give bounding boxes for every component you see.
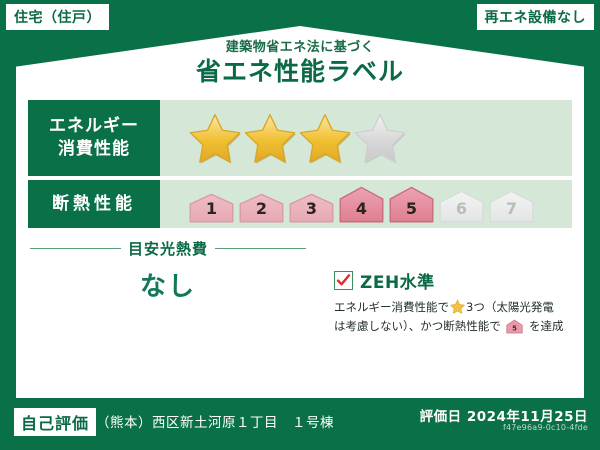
svg-text:5: 5	[512, 325, 517, 333]
zeh-desc-part1: エネルギー消費性能で	[334, 300, 449, 314]
star-icon	[450, 299, 465, 314]
star-icon-filled	[298, 111, 352, 165]
check-icon	[336, 273, 351, 288]
insulation-level-number: 5	[388, 199, 435, 218]
insulation-level-number: 2	[238, 199, 285, 218]
insulation-label: 断熱性能	[52, 193, 136, 216]
zeh-checkbox[interactable]	[334, 271, 353, 290]
insulation-level-badge: 5	[388, 186, 435, 223]
insulation-badge-inline: 5	[503, 323, 527, 337]
evaluation-id: f47e96a9-0c10-4fde	[503, 423, 588, 432]
renewable-equipment-tag-label: 再エネ設備なし	[485, 7, 587, 27]
utility-cost-value: なし	[30, 266, 306, 303]
zeh-standard-block: ZEH水準 エネルギー消費性能で 3つ（太陽光発電 は考慮しない）、かつ断熱性能…	[334, 268, 576, 340]
insulation-level-scale: 1234567	[188, 186, 535, 223]
energy-performance-label-key: エネルギー 消費性能	[28, 100, 160, 176]
insulation-level-number: 3	[288, 199, 335, 218]
insulation-level-badge: 1	[188, 193, 235, 223]
star-icon-filled	[243, 111, 297, 165]
main-panel: エネルギー 消費性能 断熱性能 1234567 目安光熱費 なし	[16, 88, 584, 398]
star-rating	[188, 111, 407, 165]
insulation-level-number: 4	[338, 199, 385, 218]
building-type-tag: 住宅（住戸）	[6, 4, 109, 30]
zeh-desc-part2: は考慮しない）、かつ断熱性能で	[334, 319, 501, 333]
utility-cost-heading-label: 目安光熱費	[128, 238, 208, 259]
zeh-header: ZEH水準	[334, 268, 576, 293]
insulation-performance-value: 1234567	[160, 180, 572, 228]
zeh-title: ZEH水準	[360, 268, 435, 293]
energy-label-line2: 消費性能	[58, 138, 130, 161]
zeh-desc-stars: 3つ（太陽光発電	[466, 300, 554, 314]
energy-performance-label: 住宅（住戸） 再エネ設備なし 建築物省エネ法に基づく 省エネ性能ラベル エネルギ…	[0, 0, 600, 450]
insulation-level-badge: 6	[438, 190, 485, 223]
utility-cost-heading: 目安光熱費	[30, 238, 306, 259]
evaluation-date: 評価日 2024年11月25日	[420, 405, 588, 425]
insulation-level-badge: 2	[238, 193, 285, 223]
insulation-level-badge: 7	[488, 190, 535, 223]
zeh-description: エネルギー消費性能で 3つ（太陽光発電 は考慮しない）、かつ断熱性能で 5 を達…	[334, 298, 576, 340]
insulation-level-number: 6	[438, 199, 485, 218]
footer: 自己評価 （熊本）西区新土河原１丁目 １号棟 評価日 2024年11月25日 f…	[0, 398, 600, 450]
divider-right	[215, 248, 306, 249]
property-address: （熊本）西区新土河原１丁目 １号棟	[96, 411, 334, 431]
self-evaluation-badge: 自己評価	[14, 408, 96, 436]
star-icon-filled	[188, 111, 242, 165]
renewable-equipment-tag: 再エネ設備なし	[477, 4, 595, 30]
zeh-desc-part3: を達成	[529, 319, 564, 333]
energy-performance-row: エネルギー 消費性能	[28, 100, 572, 176]
insulation-level-badge: 3	[288, 193, 335, 223]
star-icon-empty	[353, 111, 407, 165]
roof-shape	[16, 26, 584, 96]
insulation-level-number: 1	[188, 199, 235, 218]
energy-label-line1: エネルギー	[49, 115, 139, 138]
building-type-tag-label: 住宅（住戸）	[14, 7, 101, 27]
insulation-level-number: 7	[488, 199, 535, 218]
insulation-level-badge: 4	[338, 186, 385, 223]
insulation-performance-label-key: 断熱性能	[28, 180, 160, 228]
energy-performance-value	[160, 100, 572, 176]
insulation-performance-row: 断熱性能 1234567	[28, 180, 572, 228]
house-badge-icon: 5	[506, 319, 523, 334]
divider-left	[30, 248, 121, 249]
